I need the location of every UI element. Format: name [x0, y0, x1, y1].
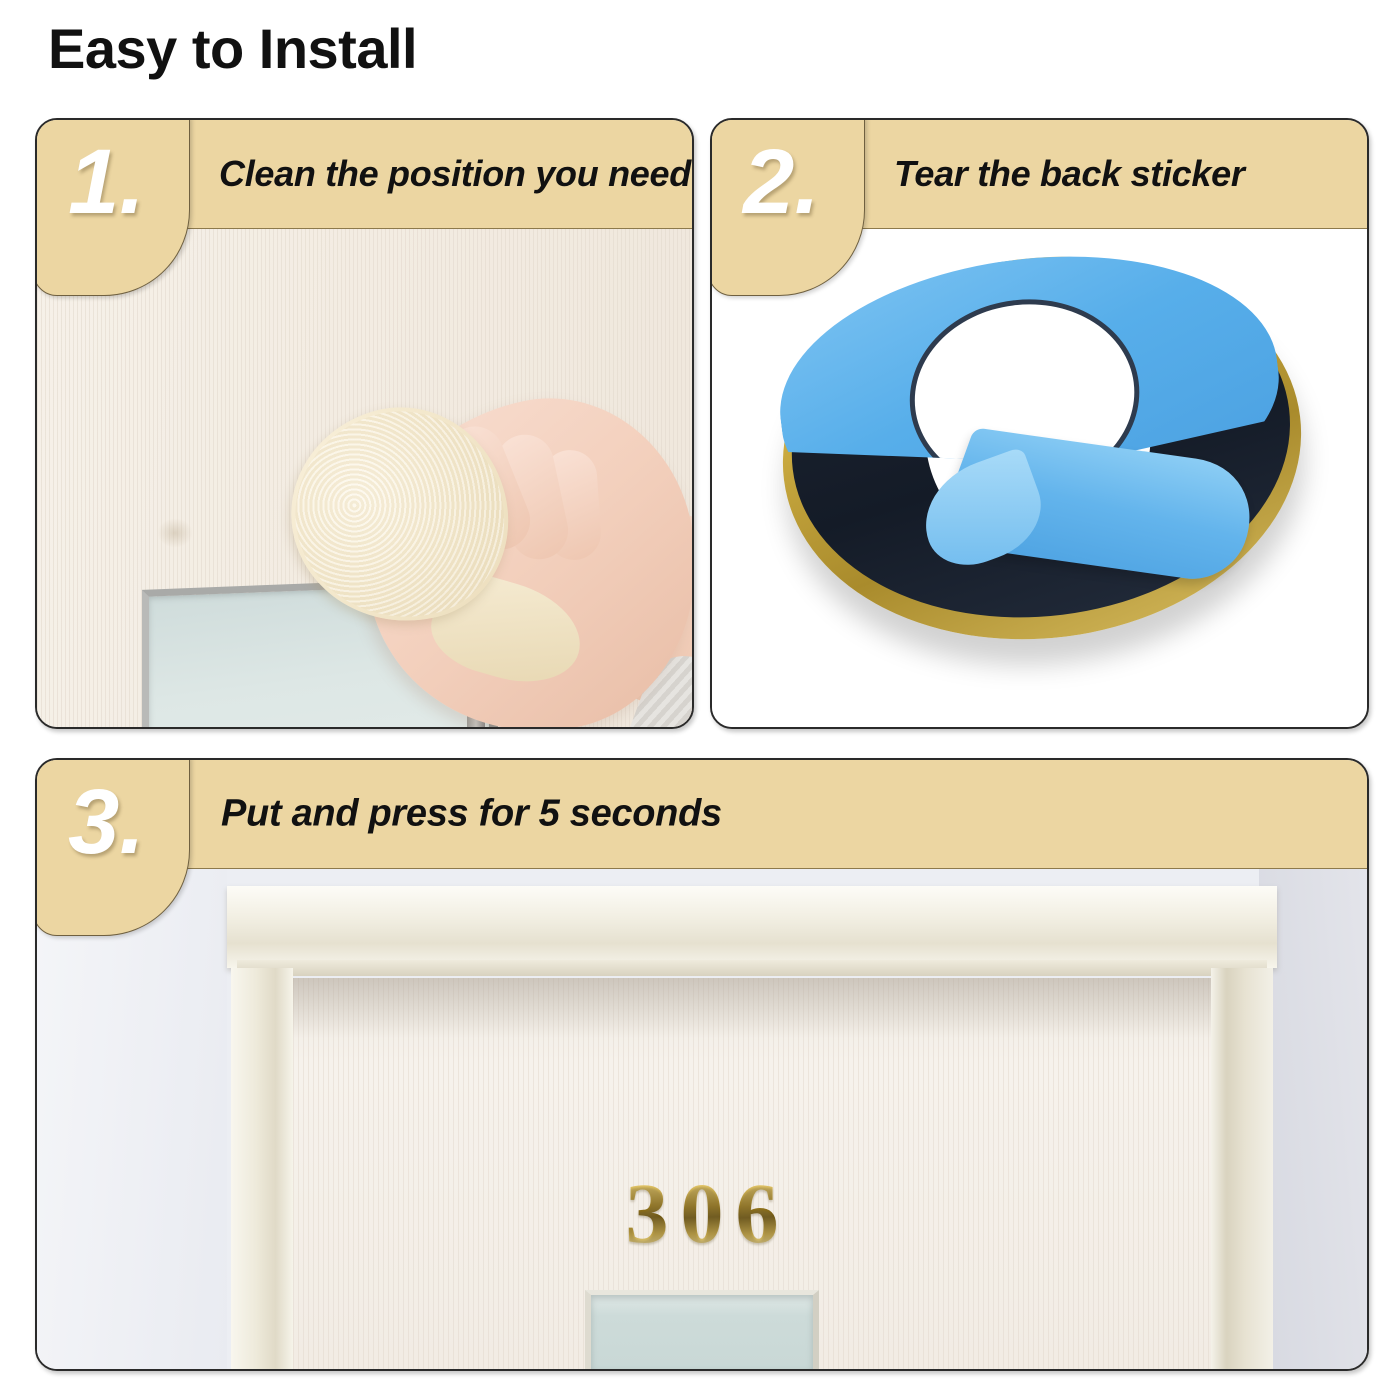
page-title: Easy to Install	[48, 18, 417, 80]
door-casing-left	[231, 968, 293, 1369]
step-panel-3: Put and press for 5 seconds 3. 3 0 6	[35, 758, 1369, 1371]
house-number: 3 0 6	[626, 1170, 779, 1256]
step-3-banner: Put and press for 5 seconds	[37, 760, 1367, 869]
step-1-label: Clean the position you need	[219, 153, 691, 195]
house-number-digit: 0	[681, 1170, 724, 1256]
numeral-stage	[712, 228, 1367, 727]
step-2-photo	[712, 228, 1367, 727]
house-number-digit: 6	[736, 1170, 779, 1256]
step-2-number: 2.	[710, 125, 864, 240]
step-panel-2: Tear the back sticker 2.	[710, 118, 1369, 729]
step-3-photo: 3 0 6	[37, 868, 1367, 1369]
wall-left	[37, 868, 227, 1369]
door-scene: 3 0 6	[37, 868, 1367, 1369]
wall-smudge	[157, 518, 193, 548]
step-1-photo	[37, 228, 692, 727]
step-2-label: Tear the back sticker	[894, 153, 1245, 195]
step-panel-1: Clean the position you need 1.	[35, 118, 694, 729]
house-number-digit: 3	[626, 1170, 669, 1256]
frosted-glass-panel	[585, 1290, 819, 1369]
door-head-shadow	[293, 978, 1211, 1038]
door-casing-top	[227, 886, 1277, 968]
door-casing-right	[1211, 968, 1273, 1369]
step-3-label: Put and press for 5 seconds	[221, 793, 722, 836]
step-3-number: 3.	[35, 765, 189, 880]
step-1-number: 1.	[35, 125, 189, 240]
door-casing-top-lip	[237, 960, 1267, 976]
